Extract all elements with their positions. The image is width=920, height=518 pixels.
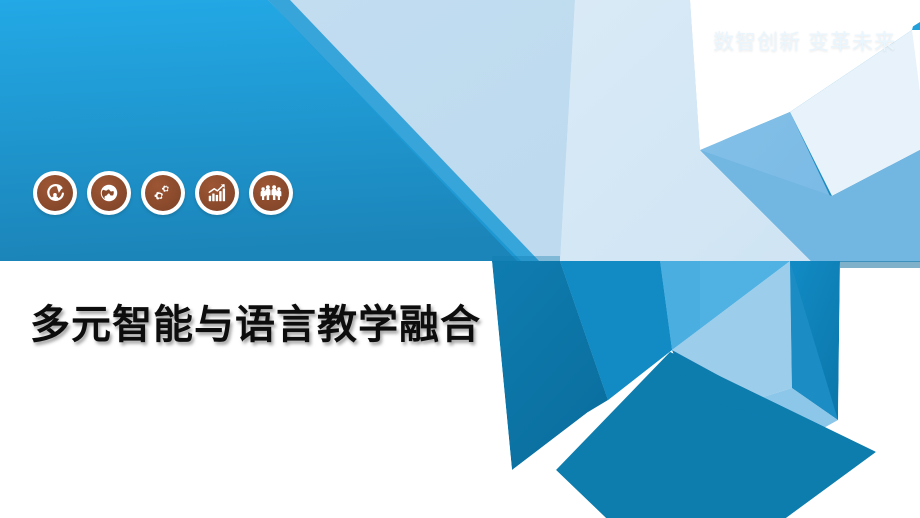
presentation-slide: 数智创新 变革未来 — [0, 0, 920, 518]
bar-chart-growth-icon — [199, 175, 235, 211]
people-group-icon — [253, 175, 289, 211]
background-polygon-artwork — [0, 0, 920, 518]
gears-icon — [145, 175, 181, 211]
feature-icon-gears[interactable] — [141, 171, 185, 215]
feature-icon-globe[interactable] — [87, 171, 131, 215]
feature-icon-bar-chart-growth[interactable] — [195, 171, 239, 215]
slide-main-title: 多元智能与语言教学融合 — [30, 292, 481, 350]
feature-icon-row — [33, 171, 293, 215]
feature-icon-people-group[interactable] — [249, 171, 293, 215]
slide-tagline: 数智创新 变革未来 — [713, 26, 896, 56]
feature-icon-refresh-arrow[interactable] — [33, 171, 77, 215]
refresh-arrow-icon — [37, 175, 73, 211]
globe-icon — [91, 175, 127, 211]
